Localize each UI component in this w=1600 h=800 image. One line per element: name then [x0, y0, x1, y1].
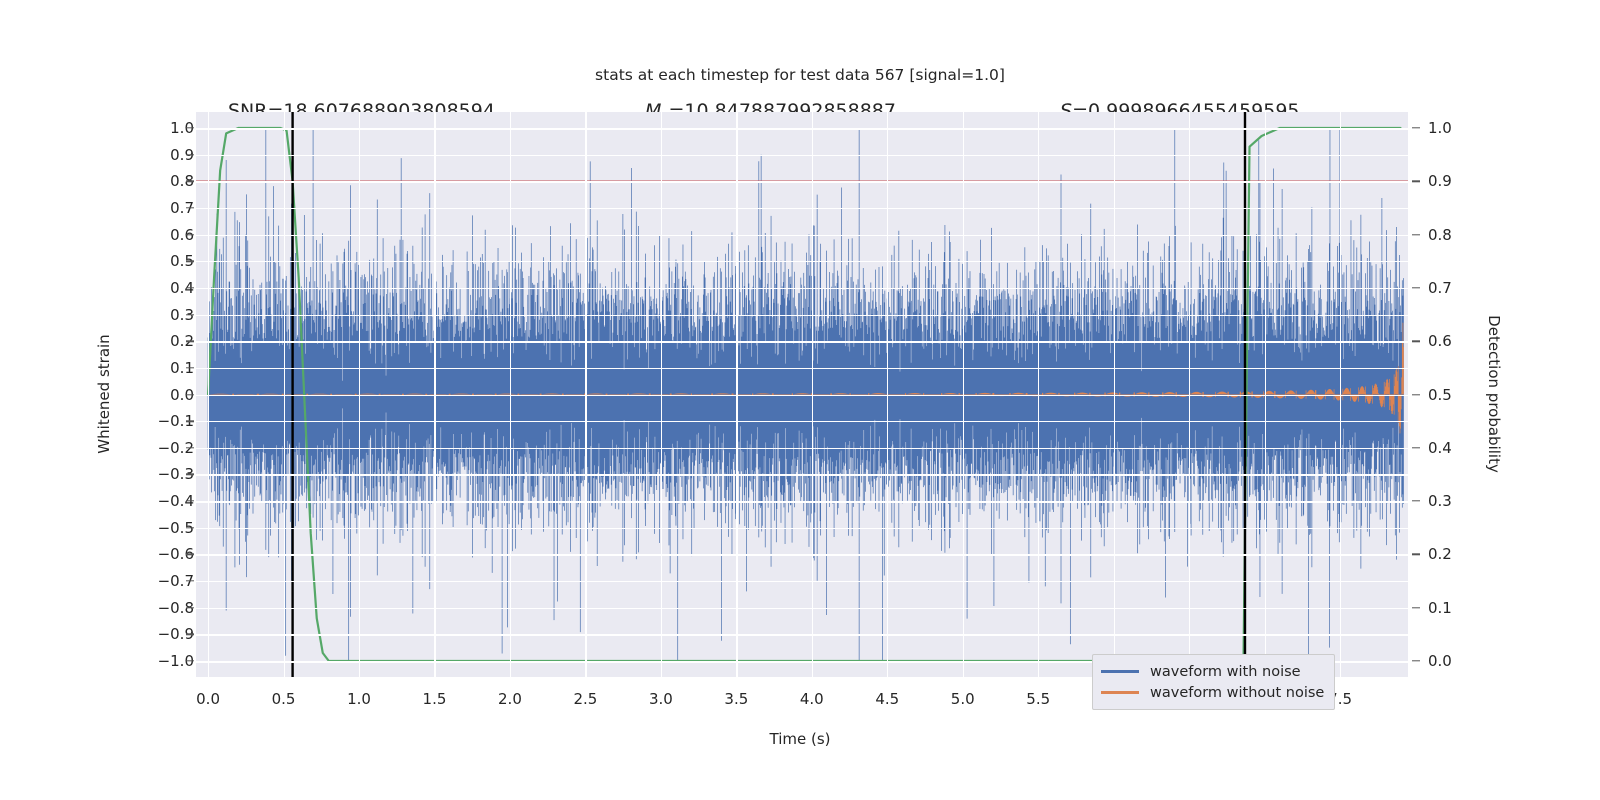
gridline-horizontal [196, 634, 1408, 635]
y-tick-label-left: −0.7 [124, 572, 194, 590]
y-tick-mark-right [1412, 607, 1420, 608]
gridline-vertical [963, 112, 964, 677]
gridline-horizontal [196, 288, 1408, 290]
gridline-vertical [208, 112, 209, 677]
gridline-horizontal [196, 528, 1408, 529]
x-tick-label: 3.0 [649, 690, 673, 708]
y-tick-label-right: 0.9 [1428, 172, 1498, 190]
gridline-horizontal [196, 474, 1408, 475]
gridline-horizontal [196, 128, 1408, 130]
y-tick-label-right: 0.3 [1428, 492, 1498, 510]
y-tick-mark-right [1412, 394, 1420, 395]
y-tick-label-left: 0.4 [124, 279, 194, 297]
y-tick-mark-left [186, 287, 194, 288]
y-tick-mark-left [186, 634, 194, 635]
y-tick-label-left: −1.0 [124, 652, 194, 670]
gridline-vertical [1340, 112, 1341, 677]
y-tick-label-left: 0.9 [124, 146, 194, 164]
y-tick-mark-left [186, 340, 194, 341]
y-tick-mark-right [1412, 554, 1420, 555]
y-tick-label-left: −0.9 [124, 625, 194, 643]
x-axis-label: Time (s) [0, 730, 1600, 748]
y-tick-label-right: 0.0 [1428, 652, 1498, 670]
gridline-horizontal [196, 501, 1408, 503]
gridline-horizontal [196, 261, 1408, 262]
gridline-horizontal [196, 581, 1408, 582]
x-tick-label: 4.5 [875, 690, 899, 708]
y-tick-label-left: 0.8 [124, 172, 194, 190]
legend-label-without-noise: waveform without noise [1150, 685, 1324, 701]
y-tick-label-left: 0.5 [124, 252, 194, 270]
gridline-horizontal [196, 395, 1408, 397]
y-tick-label-left: 0.3 [124, 306, 194, 324]
gridline-horizontal [196, 448, 1408, 450]
gridline-vertical [1038, 112, 1039, 677]
y-axis-label-left: Whitened strain [95, 334, 113, 453]
x-tick-label: 1.5 [423, 690, 447, 708]
y-tick-mark-left [186, 127, 194, 128]
y-tick-mark-left [186, 394, 194, 395]
gridline-horizontal [196, 155, 1408, 156]
y-tick-label-left: −0.3 [124, 465, 194, 483]
y-axis-label-right: Detection probability [1485, 315, 1503, 473]
y-tick-label-right: 0.8 [1428, 226, 1498, 244]
y-tick-mark-left [186, 234, 194, 235]
y-tick-mark-left [186, 261, 194, 262]
x-tick-label: 5.0 [951, 690, 975, 708]
y-tick-mark-right [1412, 447, 1420, 448]
gridline-horizontal [196, 315, 1408, 316]
y-tick-mark-left [186, 314, 194, 315]
gridline-vertical [510, 112, 511, 677]
y-tick-label-right: 0.7 [1428, 279, 1498, 297]
x-tick-label: 1.0 [347, 690, 371, 708]
plot-area [196, 112, 1408, 677]
y-tick-mark-left [186, 500, 194, 501]
legend-swatch-with-noise [1101, 670, 1139, 673]
y-tick-mark-left [186, 420, 194, 421]
x-tick-label: 5.5 [1026, 690, 1050, 708]
gridline-horizontal [196, 608, 1408, 610]
gridline-vertical [661, 112, 662, 677]
y-tick-mark-right [1412, 287, 1420, 288]
y-tick-mark-left [186, 447, 194, 448]
gridline-horizontal [196, 181, 1408, 183]
y-tick-mark-right [1412, 500, 1420, 501]
gridline-horizontal [196, 421, 1408, 422]
y-tick-mark-right [1412, 340, 1420, 341]
chart-title: stats at each timestep for test data 567… [0, 66, 1600, 84]
y-tick-mark-left [186, 527, 194, 528]
gridline-horizontal [196, 368, 1408, 369]
legend-item: waveform without noise [1101, 682, 1324, 703]
y-tick-label-right: 0.1 [1428, 599, 1498, 617]
y-tick-label-left: −0.4 [124, 492, 194, 510]
y-tick-label-left: −0.6 [124, 545, 194, 563]
figure: stats at each timestep for test data 567… [0, 0, 1600, 800]
gridline-vertical [1265, 112, 1266, 677]
y-tick-mark-left [186, 607, 194, 608]
gridline-horizontal [196, 341, 1408, 343]
gridline-vertical [284, 112, 285, 677]
y-tick-mark-left [186, 181, 194, 182]
x-tick-label: 2.5 [573, 690, 597, 708]
y-tick-mark-left [186, 207, 194, 208]
x-tick-label: 3.5 [724, 690, 748, 708]
y-tick-label-left: −0.5 [124, 519, 194, 537]
x-tick-label: 0.5 [272, 690, 296, 708]
y-tick-label-left: 0.2 [124, 332, 194, 350]
gridline-horizontal [196, 208, 1408, 209]
gridline-vertical [1114, 112, 1115, 677]
y-tick-label-left: 0.1 [124, 359, 194, 377]
y-tick-mark-right [1412, 127, 1420, 128]
y-tick-mark-left [186, 580, 194, 581]
y-tick-mark-right [1412, 234, 1420, 235]
y-tick-label-right: 0.2 [1428, 545, 1498, 563]
gridline-vertical [812, 112, 813, 677]
gridline-vertical [1189, 112, 1190, 677]
legend-swatch-without-noise [1101, 691, 1139, 694]
gridline-vertical [434, 112, 435, 677]
y-tick-mark-left [186, 154, 194, 155]
x-tick-label: 4.0 [800, 690, 824, 708]
gridline-vertical [359, 112, 360, 677]
x-tick-label: 0.0 [196, 690, 220, 708]
y-tick-label-left: 0.7 [124, 199, 194, 217]
y-tick-mark-left [186, 660, 194, 661]
gridline-horizontal [196, 554, 1408, 556]
y-tick-label-left: 1.0 [124, 119, 194, 137]
y-tick-mark-left [186, 367, 194, 368]
legend-item: waveform with noise [1101, 661, 1324, 682]
gridline-vertical [887, 112, 888, 677]
y-tick-label-left: 0.0 [124, 386, 194, 404]
gridline-horizontal [196, 235, 1408, 237]
y-tick-label-left: −0.1 [124, 412, 194, 430]
y-tick-mark-right [1412, 181, 1420, 182]
y-tick-label-left: −0.2 [124, 439, 194, 457]
y-tick-mark-left [186, 554, 194, 555]
legend-label-with-noise: waveform with noise [1150, 664, 1301, 680]
gridline-vertical [736, 112, 737, 677]
y-tick-mark-left [186, 474, 194, 475]
y-tick-mark-right [1412, 660, 1420, 661]
gridline-vertical [585, 112, 586, 677]
legend: waveform with noise waveform without noi… [1092, 654, 1335, 710]
y-tick-label-left: −0.8 [124, 599, 194, 617]
y-tick-label-left: 0.6 [124, 226, 194, 244]
y-tick-label-right: 1.0 [1428, 119, 1498, 137]
x-tick-label: 2.0 [498, 690, 522, 708]
